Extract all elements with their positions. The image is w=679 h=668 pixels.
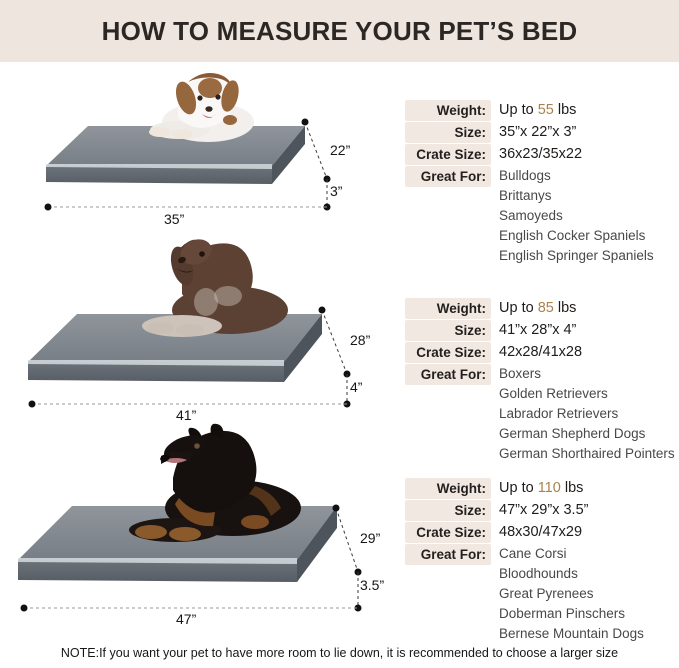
dog-photo-pointer — [120, 236, 300, 344]
value-crate-size: 42x28/41x28 — [491, 342, 582, 363]
label-weight: Weight: — [405, 100, 491, 121]
dim-length-small: 35” — [164, 211, 184, 227]
info-row-weight: Weight: Up to 110 lbs — [405, 478, 679, 499]
header-banner: HOW TO MEASURE YOUR PET’S BED — [0, 0, 679, 62]
label-crate-size: Crate Size: — [405, 342, 491, 363]
label-size: Size: — [405, 122, 491, 143]
dim-width-small: 22” — [330, 142, 350, 158]
label-great-for: Great For: — [405, 544, 491, 565]
label-crate-size: Crate Size: — [405, 144, 491, 165]
footer-note: NOTE:If you want your pet to have more r… — [0, 646, 679, 660]
info-row-weight: Weight: Up to 55 lbs — [405, 100, 679, 121]
value-weight: Up to 110 lbs — [491, 478, 583, 499]
weight-suffix: lbs — [561, 480, 584, 496]
weight-value: 85 — [538, 300, 554, 316]
list-item: Cane Corsi — [499, 544, 644, 564]
dim-height-medium: 4” — [350, 379, 362, 395]
info-row-crate-size: Crate Size: 42x28/41x28 — [405, 342, 679, 363]
list-item: Samoyeds — [499, 206, 654, 226]
value-size: 35”x 22”x 3” — [491, 122, 576, 143]
list-item: Great Pyrenees — [499, 584, 644, 604]
weight-prefix: Up to — [499, 102, 538, 118]
dim-width-medium: 28” — [350, 332, 370, 348]
dog-photo-brittany — [130, 70, 270, 148]
list-item: Doberman Pinschers — [499, 604, 644, 624]
info-row-size: Size: 47”x 29”x 3.5” — [405, 500, 679, 521]
label-weight: Weight: — [405, 478, 491, 499]
label-great-for: Great For: — [405, 364, 491, 385]
info-panel-large: Weight: Up to 110 lbs Size: 47”x 29”x 3.… — [405, 478, 679, 645]
bed-illustration-large: 29” 3.5” 47” — [0, 420, 400, 638]
value-size: 47”x 29”x 3.5” — [491, 500, 588, 521]
value-weight: Up to 55 lbs — [491, 100, 576, 121]
weight-prefix: Up to — [499, 480, 538, 496]
weight-value: 55 — [538, 102, 554, 118]
list-item: Golden Retrievers — [499, 384, 675, 404]
size-section-small: 22” 3” 35” Weight: Up to 55 lbs Size: 35… — [0, 66, 679, 238]
list-item: Boxers — [499, 364, 675, 384]
info-row-crate-size: Crate Size: 48x30/47x29 — [405, 522, 679, 543]
list-item: Bloodhounds — [499, 564, 644, 584]
info-row-weight: Weight: Up to 85 lbs — [405, 298, 679, 319]
weight-prefix: Up to — [499, 300, 538, 316]
dim-width-large: 29” — [360, 530, 380, 546]
value-size: 41”x 28”x 4” — [491, 320, 576, 341]
dim-height-large: 3.5” — [360, 577, 384, 593]
info-row-crate-size: Crate Size: 36x23/35x22 — [405, 144, 679, 165]
list-item: Bernese Mountain Dogs — [499, 624, 644, 644]
info-row-great-for: Great For: Cane Corsi Bloodhounds Great … — [405, 544, 679, 644]
dim-length-large: 47” — [176, 611, 196, 627]
label-weight: Weight: — [405, 298, 491, 319]
value-crate-size: 36x23/35x22 — [491, 144, 582, 165]
list-item: Brittanys — [499, 186, 654, 206]
info-row-size: Size: 41”x 28”x 4” — [405, 320, 679, 341]
label-great-for: Great For: — [405, 166, 491, 187]
label-crate-size: Crate Size: — [405, 522, 491, 543]
label-size: Size: — [405, 500, 491, 521]
bed-illustration-medium: 28” 4” 41” — [0, 232, 400, 424]
value-crate-size: 48x30/47x29 — [491, 522, 582, 543]
page-title: HOW TO MEASURE YOUR PET’S BED — [102, 16, 578, 47]
size-section-medium: 28” 4” 41” Weight: Up to 85 lbs Size: 41… — [0, 232, 679, 424]
breed-list: Cane Corsi Bloodhounds Great Pyrenees Do… — [491, 544, 644, 644]
info-row-size: Size: 35”x 22”x 3” — [405, 122, 679, 143]
size-section-large: 29” 3.5” 47” Weight: Up to 110 lbs Size:… — [0, 420, 679, 638]
value-weight: Up to 85 lbs — [491, 298, 576, 319]
bed-illustration-small: 22” 3” 35” — [0, 66, 400, 238]
weight-value: 110 — [538, 480, 561, 496]
dim-height-small: 3” — [330, 183, 342, 199]
weight-suffix: lbs — [554, 102, 577, 118]
weight-suffix: lbs — [554, 300, 577, 316]
list-item: Bulldogs — [499, 166, 654, 186]
label-size: Size: — [405, 320, 491, 341]
dog-photo-doberman — [105, 426, 315, 552]
